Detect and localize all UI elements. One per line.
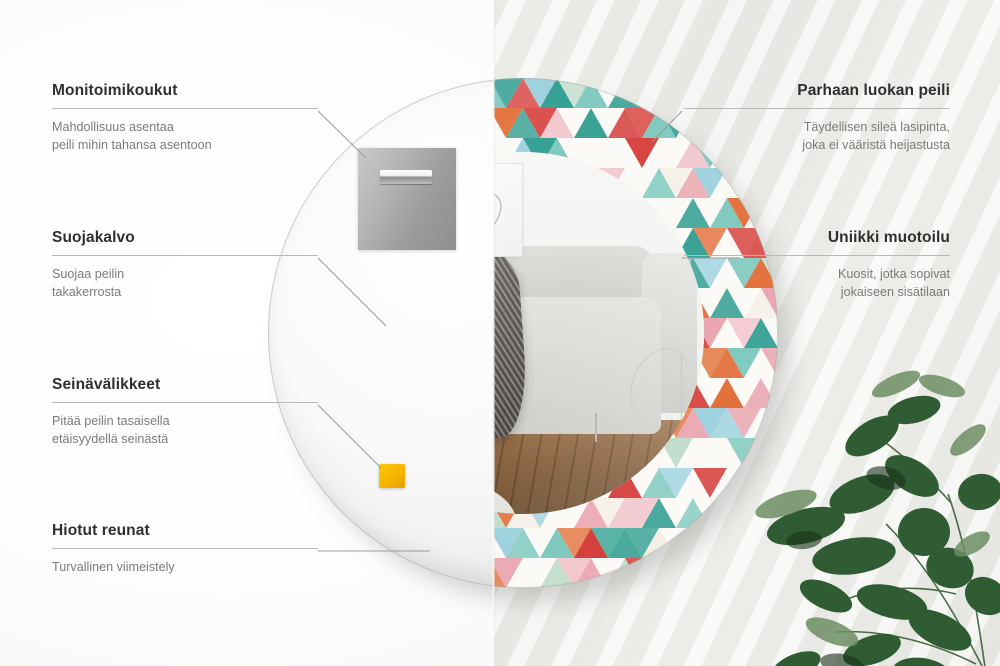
- callout-title: Parhaan luokan peili: [684, 82, 950, 100]
- hook-slot: [380, 170, 432, 184]
- callout-desc: Suojaa peilin takakerrosta: [52, 265, 318, 302]
- callout-desc: Pitää peilin tasaisella etäisyydellä sei…: [52, 412, 318, 449]
- callout-rule: [684, 255, 950, 256]
- callout-best-in-class-mirror: Parhaan luokan peili Täydellisen sileä l…: [684, 82, 950, 155]
- callout-unique-design: Uniikki muotoilu Kuosit, jotka sopivat j…: [684, 229, 950, 302]
- callout-rule: [52, 548, 318, 549]
- callout-rule: [52, 402, 318, 403]
- callout-desc: Kuosit, jotka sopivat jokaiseen sisätila…: [684, 265, 950, 302]
- callout-polished-edges: Hiotut reunat Turvallinen viimeistely: [52, 522, 318, 576]
- callout-desc: Mahdollisuus asentaa peili mihin tahansa…: [52, 118, 318, 155]
- callout-desc: Turvallinen viimeistely: [52, 558, 318, 576]
- callout-rule: [684, 108, 950, 109]
- callout-wall-spacers: Seinävälikkeet Pitää peilin tasaisella e…: [52, 376, 318, 449]
- callout-rule: [52, 255, 318, 256]
- product-infographic: Monitoimikoukut Mahdollisuus asentaa pei…: [0, 0, 1000, 666]
- mounting-hook: [358, 148, 456, 250]
- wall-spacer: [379, 464, 405, 488]
- callout-title: Monitoimikoukut: [52, 82, 318, 100]
- callout-protective-film: Suojakalvo Suojaa peilin takakerrosta: [52, 229, 318, 302]
- callout-desc: Täydellisen sileä lasipinta, joka ei vää…: [684, 118, 950, 155]
- callout-rule: [52, 108, 318, 109]
- callout-multifunctional-hooks: Monitoimikoukut Mahdollisuus asentaa pei…: [52, 82, 318, 155]
- callout-title: Suojakalvo: [52, 229, 318, 247]
- foliage-plant: [686, 344, 1000, 666]
- callout-title: Uniikki muotoilu: [684, 229, 950, 247]
- panel-seam-divider: [492, 0, 495, 666]
- callout-title: Seinävälikkeet: [52, 376, 318, 394]
- callout-title: Hiotut reunat: [52, 522, 318, 540]
